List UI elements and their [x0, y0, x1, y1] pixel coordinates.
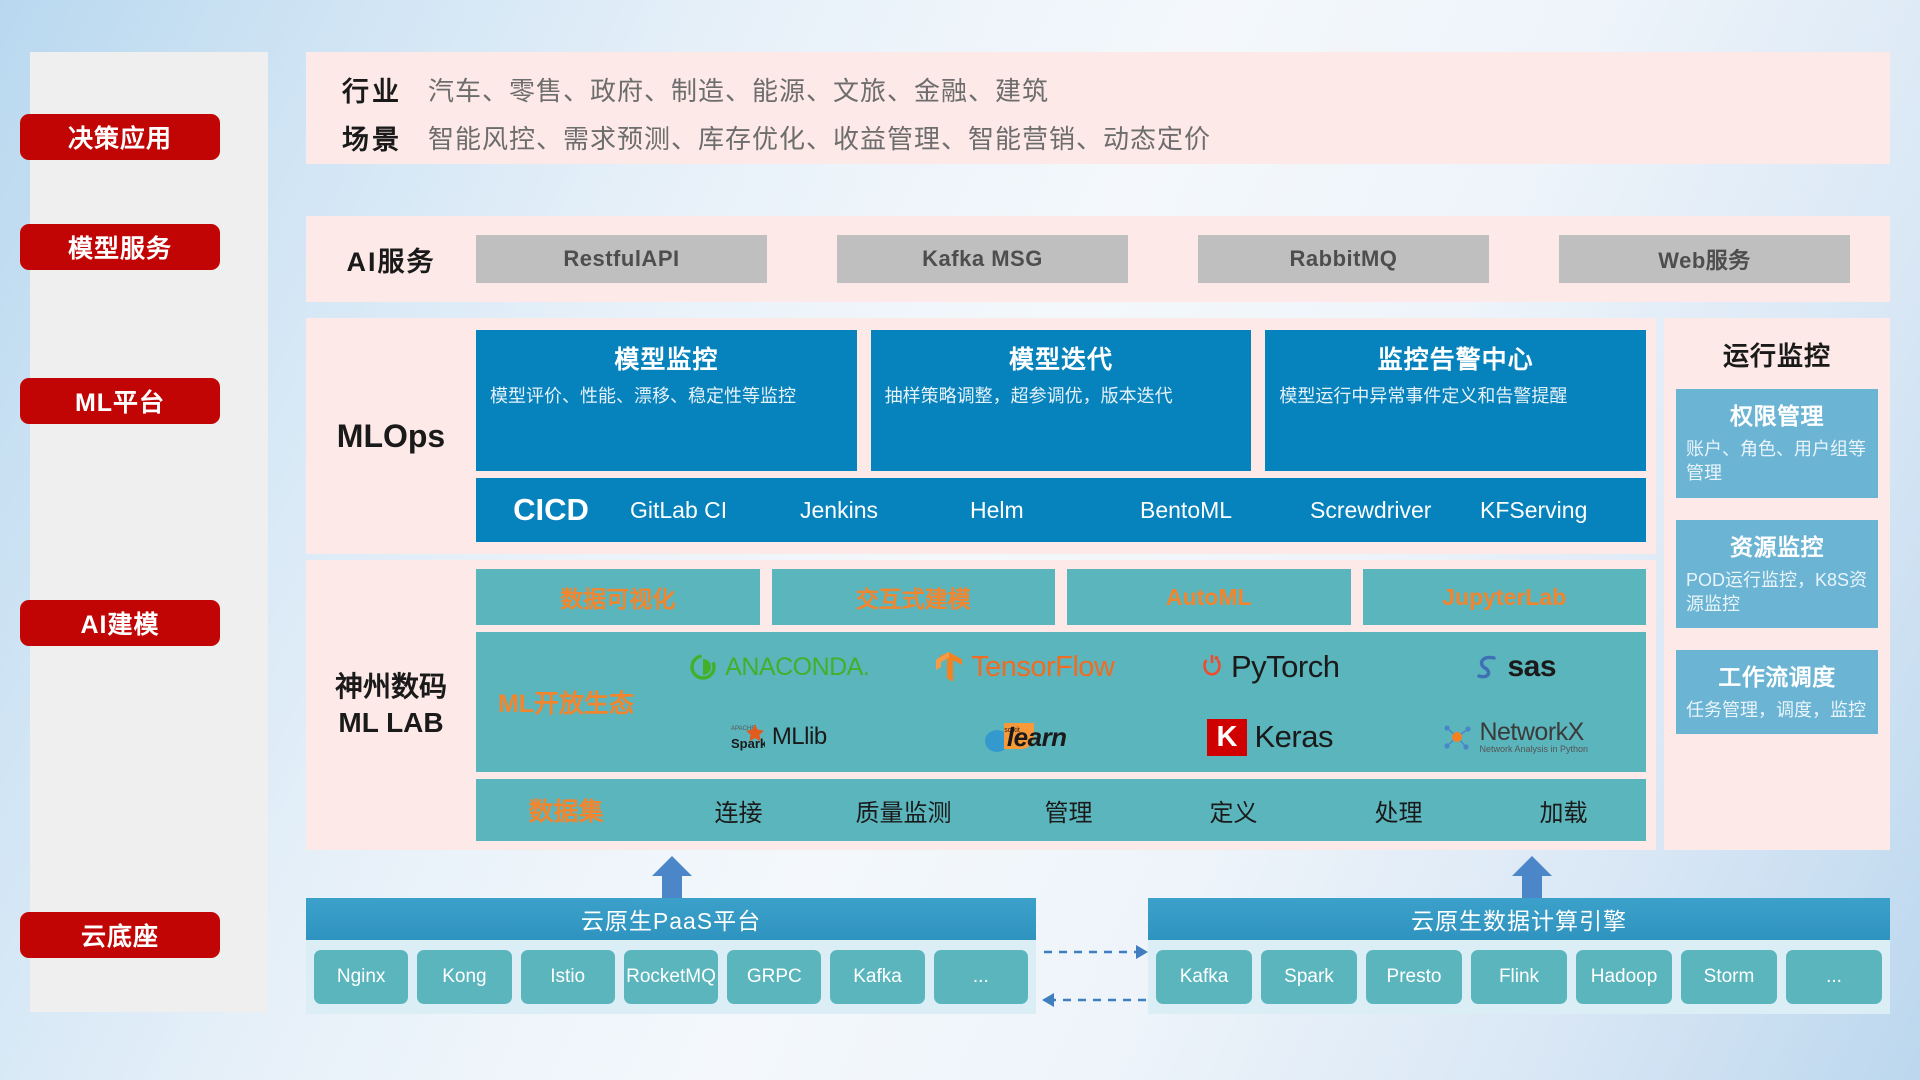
- mlops-card-title: 模型迭代: [1009, 340, 1113, 376]
- spark-mllib-logo: APACHE Spark MLlib: [731, 722, 827, 752]
- rail-chip-ai-modeling[interactable]: AI建模: [20, 600, 220, 646]
- cloud-engine-group: 云原生数据计算引擎 Kafka Spark Presto Flink Hadoo…: [1148, 898, 1890, 1014]
- ml-lab-tab-list: 数据可视化 交互式建模 AutoML JupyterLab: [476, 569, 1646, 625]
- ml-ecosystem-logo-grid: ANACONDA. TensorFlow PyTorch: [656, 632, 1646, 772]
- anaconda-icon: [688, 652, 718, 682]
- monitor-card-workflow[interactable]: 工作流调度 任务管理，调度，监控: [1676, 650, 1878, 734]
- ml-lab-content: 数据可视化 交互式建模 AutoML JupyterLab ML开放生态 ANA…: [476, 569, 1656, 841]
- scikit-learn-logo: scikit learn: [982, 718, 1067, 756]
- ml-lab-label: 神州数码 ML LAB: [306, 669, 476, 742]
- dataset-item-manage[interactable]: 管理: [986, 793, 1151, 828]
- monitor-card-title: 工作流调度: [1686, 658, 1868, 692]
- ml-lab-label-line2: ML LAB: [306, 705, 476, 741]
- industry-row-text: 汽车、零售、政府、制造、能源、文旅、金融、建筑: [428, 71, 1049, 108]
- svg-text:Spark: Spark: [731, 736, 765, 751]
- cloud-chip-spark[interactable]: Spark: [1261, 950, 1357, 1004]
- dataset-item-process[interactable]: 处理: [1316, 793, 1481, 828]
- tab-data-visualization[interactable]: 数据可视化: [476, 569, 760, 625]
- dataset-row: 数据集 连接 质量监测 管理 定义 处理 加载: [476, 779, 1646, 841]
- mlops-card-model-monitor[interactable]: 模型监控 模型评价、性能、漂移、稳定性等监控: [476, 330, 857, 471]
- monitor-panel: 运行监控 权限管理 账户、角色、用户组等管理 资源监控 POD运行监控，K8S资…: [1664, 318, 1890, 850]
- cicd-item-jenkins[interactable]: Jenkins: [796, 497, 966, 523]
- rail-chip-label: 模型服务: [68, 229, 172, 265]
- cloud-chip-presto[interactable]: Presto: [1366, 950, 1462, 1004]
- mlops-card-desc: 模型运行中异常事件定义和告警提醒: [1279, 384, 1632, 408]
- sas-logo: sas: [1474, 650, 1556, 684]
- rail-chip-cloud-base[interactable]: 云底座: [20, 912, 220, 958]
- scenario-row-label: 场景: [316, 118, 428, 157]
- anaconda-logo: ANACONDA.: [688, 652, 869, 682]
- ml-lab-band: 神州数码 ML LAB 数据可视化 交互式建模 AutoML JupyterLa…: [306, 560, 1656, 850]
- ai-service-chip-restfulapi[interactable]: RestfulAPI: [476, 235, 767, 283]
- mllib-label: MLlib: [772, 723, 827, 751]
- up-arrow-engine-icon: [1510, 856, 1554, 898]
- mlops-band: MLOps 模型监控 模型评价、性能、漂移、稳定性等监控 模型迭代 抽样策略调整…: [306, 318, 1656, 554]
- mlops-card-title: 模型监控: [614, 340, 718, 376]
- ml-ecosystem-label: ML开放生态: [476, 684, 656, 720]
- industry-row: 行业 汽车、零售、政府、制造、能源、文旅、金融、建筑: [316, 70, 1049, 109]
- rail-chip-ml-platform[interactable]: ML平台: [20, 378, 220, 424]
- pytorch-logo: PyTorch: [1200, 649, 1339, 685]
- cicd-item-gitlab-ci[interactable]: GitLab CI: [626, 497, 796, 523]
- ai-service-chip-list: RestfulAPI Kafka MSG RabbitMQ Web服务: [476, 235, 1890, 283]
- cloud-connector-arrows: [1040, 930, 1150, 1020]
- dataset-item-list: 连接 质量监测 管理 定义 处理 加载: [656, 793, 1646, 828]
- rail-chip-label: ML平台: [75, 383, 165, 419]
- keras-logo: K Keras: [1207, 719, 1333, 756]
- tab-jupyterlab[interactable]: JupyterLab: [1363, 569, 1647, 625]
- layer-rail: [30, 52, 268, 1012]
- mlops-card-model-iteration[interactable]: 模型迭代 抽样策略调整，超参调优，版本迭代: [871, 330, 1252, 471]
- dataset-item-define[interactable]: 定义: [1151, 793, 1316, 828]
- ai-service-band: AI服务 RestfulAPI Kafka MSG RabbitMQ Web服务: [306, 216, 1890, 302]
- rail-chip-label: AI建模: [80, 605, 159, 641]
- mlops-card-list: 模型监控 模型评价、性能、漂移、稳定性等监控 模型迭代 抽样策略调整，超参调优，…: [476, 330, 1646, 471]
- monitor-panel-title: 运行监控: [1676, 336, 1878, 373]
- networkx-icon: [1442, 722, 1472, 752]
- mlops-card-title: 监控告警中心: [1378, 340, 1534, 376]
- cloud-engine-chip-list: Kafka Spark Presto Flink Hadoop Storm ..…: [1148, 940, 1890, 1014]
- cicd-item-helm[interactable]: Helm: [966, 497, 1136, 523]
- spark-icon: APACHE Spark: [731, 722, 765, 752]
- cloud-chip-rocketmq[interactable]: RocketMQ: [624, 950, 718, 1004]
- dataset-item-quality-monitor[interactable]: 质量监测: [821, 793, 986, 828]
- cloud-chip-more[interactable]: ...: [934, 950, 1028, 1004]
- ml-lab-label-line1: 神州数码: [306, 669, 476, 705]
- mlops-card-desc: 抽样策略调整，超参调优，版本迭代: [885, 384, 1238, 408]
- cloud-chip-kong[interactable]: Kong: [417, 950, 511, 1004]
- tab-automl[interactable]: AutoML: [1067, 569, 1351, 625]
- tensorflow-label: TensorFlow: [971, 651, 1114, 684]
- cicd-item-list: GitLab CI Jenkins Helm BentoML Screwdriv…: [626, 497, 1646, 523]
- ai-service-chip-web[interactable]: Web服务: [1559, 235, 1850, 283]
- anaconda-label: ANACONDA.: [725, 653, 869, 682]
- cloud-chip-more[interactable]: ...: [1786, 950, 1882, 1004]
- tensorflow-logo: TensorFlow: [934, 650, 1114, 684]
- rail-chip-model-service[interactable]: 模型服务: [20, 224, 220, 270]
- cicd-item-screwdriver[interactable]: Screwdriver: [1306, 497, 1476, 523]
- networkx-sublabel: Network Analysis in Python: [1479, 745, 1588, 754]
- cicd-bar: CICD GitLab CI Jenkins Helm BentoML Scre…: [476, 478, 1646, 542]
- networkx-logo: NetworkX Network Analysis in Python: [1442, 720, 1588, 754]
- keras-label: Keras: [1254, 719, 1332, 755]
- monitor-card-resource[interactable]: 资源监控 POD运行监控，K8S资源监控: [1676, 520, 1878, 629]
- monitor-card-desc: 任务管理，调度，监控: [1686, 698, 1868, 722]
- cicd-item-bentoml[interactable]: BentoML: [1136, 497, 1306, 523]
- cloud-chip-istio[interactable]: Istio: [521, 950, 615, 1004]
- rail-chip-label: 决策应用: [68, 119, 172, 155]
- ai-service-label: AI服务: [306, 240, 476, 279]
- sas-label: sas: [1507, 650, 1556, 684]
- monitor-card-title: 权限管理: [1686, 397, 1868, 431]
- cloud-paas-chip-list: Nginx Kong Istio RocketMQ GRPC Kafka ...: [306, 940, 1036, 1014]
- ml-ecosystem-row: ML开放生态 ANACONDA. TensorFlow: [476, 632, 1646, 772]
- cloud-chip-kafka[interactable]: Kafka: [830, 950, 924, 1004]
- industry-band: 行业 汽车、零售、政府、制造、能源、文旅、金融、建筑 场景 智能风控、需求预测、…: [306, 52, 1890, 164]
- up-arrow-paas-icon: [650, 856, 694, 898]
- mlops-content: 模型监控 模型评价、性能、漂移、稳定性等监控 模型迭代 抽样策略调整，超参调优，…: [476, 330, 1656, 542]
- cicd-title: CICD: [476, 492, 626, 528]
- mlops-label: MLOps: [306, 418, 476, 455]
- cloud-chip-hadoop[interactable]: Hadoop: [1576, 950, 1672, 1004]
- monitor-card-desc: 账户、角色、用户组等管理: [1686, 437, 1868, 486]
- scenario-row: 场景 智能风控、需求预测、库存优化、收益管理、智能营销、动态定价: [316, 118, 1211, 157]
- monitor-card-permission[interactable]: 权限管理 账户、角色、用户组等管理: [1676, 389, 1878, 498]
- cloud-chip-flink[interactable]: Flink: [1471, 950, 1567, 1004]
- tab-interactive-modeling[interactable]: 交互式建模: [772, 569, 1056, 625]
- dataset-item-connect[interactable]: 连接: [656, 793, 821, 828]
- monitor-card-desc: POD运行监控，K8S资源监控: [1686, 568, 1868, 617]
- cloud-chip-storm[interactable]: Storm: [1681, 950, 1777, 1004]
- tensorflow-icon: [934, 650, 964, 684]
- dataset-label: 数据集: [476, 792, 656, 828]
- cloud-chip-nginx[interactable]: Nginx: [314, 950, 408, 1004]
- dataset-item-load[interactable]: 加载: [1481, 793, 1646, 828]
- cloud-chip-grpc[interactable]: GRPC: [727, 950, 821, 1004]
- cloud-paas-group: 云原生PaaS平台 Nginx Kong Istio RocketMQ GRPC…: [306, 898, 1036, 1014]
- rail-chip-label: 云底座: [81, 917, 159, 953]
- cloud-paas-header: 云原生PaaS平台: [306, 898, 1036, 940]
- rail-chip-decision[interactable]: 决策应用: [20, 114, 220, 160]
- pytorch-label: PyTorch: [1231, 649, 1339, 685]
- cicd-item-kfserving[interactable]: KFServing: [1476, 497, 1646, 523]
- sas-icon: [1474, 652, 1500, 682]
- ai-service-chip-kafka-msg[interactable]: Kafka MSG: [837, 235, 1128, 283]
- pytorch-icon: [1200, 652, 1224, 682]
- mlops-card-alert-center[interactable]: 监控告警中心 模型运行中异常事件定义和告警提醒: [1265, 330, 1646, 471]
- industry-row-label: 行业: [316, 70, 428, 109]
- ai-service-chip-rabbitmq[interactable]: RabbitMQ: [1198, 235, 1489, 283]
- cloud-engine-header: 云原生数据计算引擎: [1148, 898, 1890, 940]
- scenario-row-text: 智能风控、需求预测、库存优化、收益管理、智能营销、动态定价: [428, 119, 1211, 156]
- scikit-learn-label: learn: [1007, 722, 1067, 753]
- keras-k-mark: K: [1207, 719, 1248, 756]
- monitor-card-title: 资源监控: [1686, 528, 1868, 562]
- cloud-chip-kafka[interactable]: Kafka: [1156, 950, 1252, 1004]
- mlops-card-desc: 模型评价、性能、漂移、稳定性等监控: [490, 384, 843, 408]
- networkx-label: NetworkX: [1479, 720, 1588, 745]
